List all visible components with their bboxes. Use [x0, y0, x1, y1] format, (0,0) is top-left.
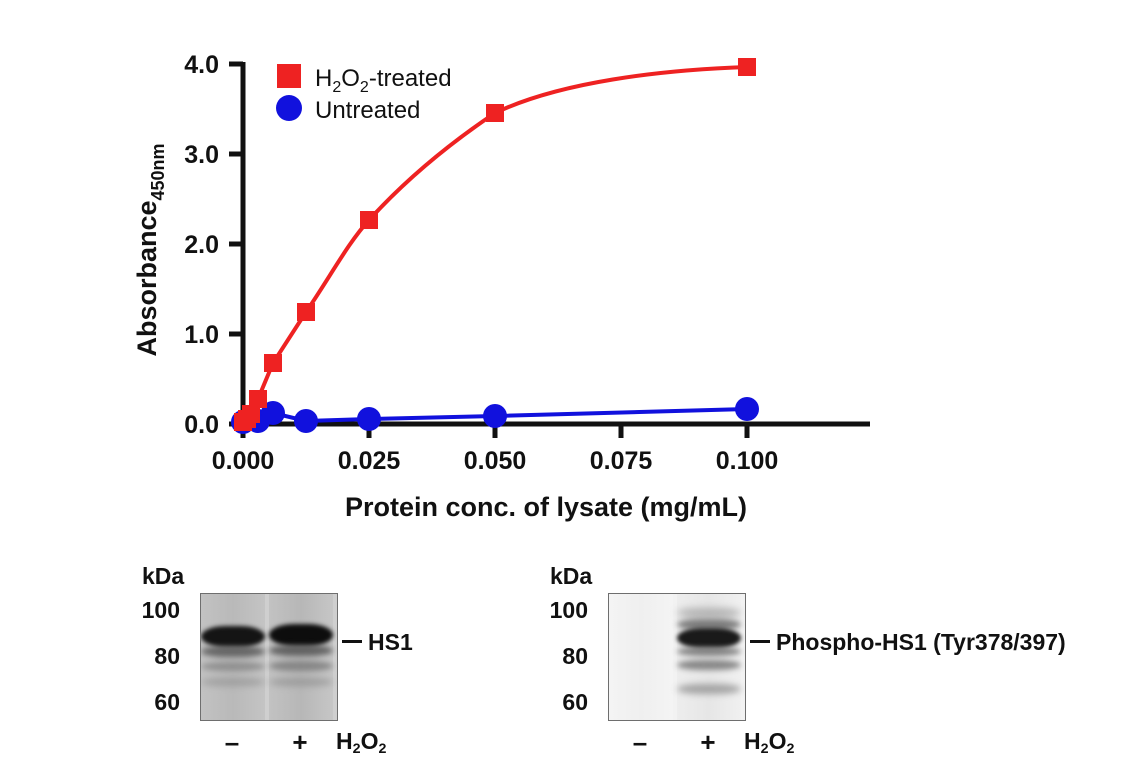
blot-target-label-phospho-hs1: Phospho-HS1 (Tyr378/397) [776, 629, 1066, 656]
y-tick-label: 0.0 [184, 411, 219, 439]
treatment-label-h2o2: H2O2 [336, 728, 386, 755]
treated-point [249, 390, 267, 408]
h-glyph: H [336, 728, 353, 754]
band-faint-72kda [677, 660, 741, 670]
mw-marker-80: 80 [536, 643, 588, 670]
treated-point [738, 58, 756, 76]
untreated-point [294, 409, 318, 433]
y-tick-label: 4.0 [184, 51, 219, 79]
mw-marker-60: 60 [536, 689, 588, 716]
absorbance-chart-panel: 0.0 1.0 2.0 3.0 4.0 0.000 0.025 0.050 0.… [0, 0, 1141, 540]
blot-lane-plus [677, 594, 741, 720]
blot-lane-minus [609, 594, 673, 720]
lane-sign-plus: + [693, 727, 723, 758]
band-pointer-phospho-hs1 [750, 640, 770, 643]
x-tick-label: 0.050 [464, 447, 527, 475]
y-tick-label: 1.0 [184, 321, 219, 349]
blot-target-label-hs1: HS1 [368, 629, 413, 656]
legend-marker-untreated [276, 95, 302, 121]
x-tick-label: 0.075 [590, 447, 653, 475]
treated-point [486, 104, 504, 122]
band-faint-72kda [201, 662, 265, 671]
h-subscript: 2 [761, 741, 769, 757]
y-tick-label: 3.0 [184, 141, 219, 169]
treated-point [264, 354, 282, 372]
chart-svg: 0.0 1.0 2.0 3.0 4.0 0.000 0.025 0.050 0.… [0, 0, 1141, 540]
legend-marker-treated [277, 64, 301, 88]
band-faint-65kda [269, 678, 333, 686]
band-faint-72kda [269, 661, 333, 671]
blot-lane-plus [269, 594, 333, 720]
blot-image-hs1 [200, 593, 338, 721]
untreated-point [357, 407, 381, 431]
y-tick-label: 2.0 [184, 231, 219, 259]
blot-lane-minus [201, 594, 265, 720]
kda-header: kDa [550, 563, 592, 590]
lane-sign-minus: – [625, 727, 655, 758]
o-subscript: 2 [378, 741, 386, 757]
o-subscript: 2 [786, 741, 794, 757]
h-subscript: 2 [353, 741, 361, 757]
band-shadow [201, 646, 265, 657]
h-glyph: H [744, 728, 761, 754]
x-tick-label: 0.100 [716, 447, 779, 475]
treatment-label-h2o2: H2O2 [744, 728, 794, 755]
mw-marker-80: 80 [128, 643, 180, 670]
untreated-point [735, 397, 759, 421]
legend-label-treated: H2O2-treated [315, 65, 452, 96]
chart-legend: H2O2-treated Untreated [276, 64, 452, 124]
untreated-point [483, 404, 507, 428]
x-axis-title: Protein conc. of lysate (mg/mL) [345, 492, 747, 522]
band-pointer-hs1 [342, 640, 362, 643]
x-tick-label: 0.000 [212, 447, 275, 475]
lane-sign-plus: + [285, 727, 315, 758]
y-axis-tick-labels: 0.0 1.0 2.0 3.0 4.0 [184, 51, 219, 439]
band-85kda [201, 626, 265, 647]
o-glyph: O [769, 728, 787, 754]
lane-sign-minus: – [217, 727, 247, 758]
band-85kda [269, 624, 333, 646]
x-tick-label: 0.025 [338, 447, 401, 475]
blot-image-phospho-hs1 [608, 593, 746, 721]
x-axis-tick-labels: 0.000 0.025 0.050 0.075 0.100 [212, 447, 779, 475]
mw-marker-60: 60 [128, 689, 180, 716]
y-axis-title-group: Absorbance450nm [132, 143, 168, 356]
band-shadow [269, 645, 333, 656]
mw-marker-100: 100 [536, 597, 588, 624]
legend-label-untreated: Untreated [315, 97, 420, 124]
band-shadow [677, 647, 741, 656]
kda-header: kDa [142, 563, 184, 590]
band-faint-65kda [201, 678, 265, 686]
band-85kda [677, 628, 741, 648]
o-glyph: O [361, 728, 379, 754]
mw-marker-100: 100 [128, 597, 180, 624]
band-faint-100kda [677, 608, 741, 618]
series-treated [234, 58, 756, 431]
treated-point [297, 303, 315, 321]
y-axis-title: Absorbance450nm [132, 143, 168, 356]
treated-point [360, 211, 378, 229]
band-faint-62kda [677, 684, 741, 694]
